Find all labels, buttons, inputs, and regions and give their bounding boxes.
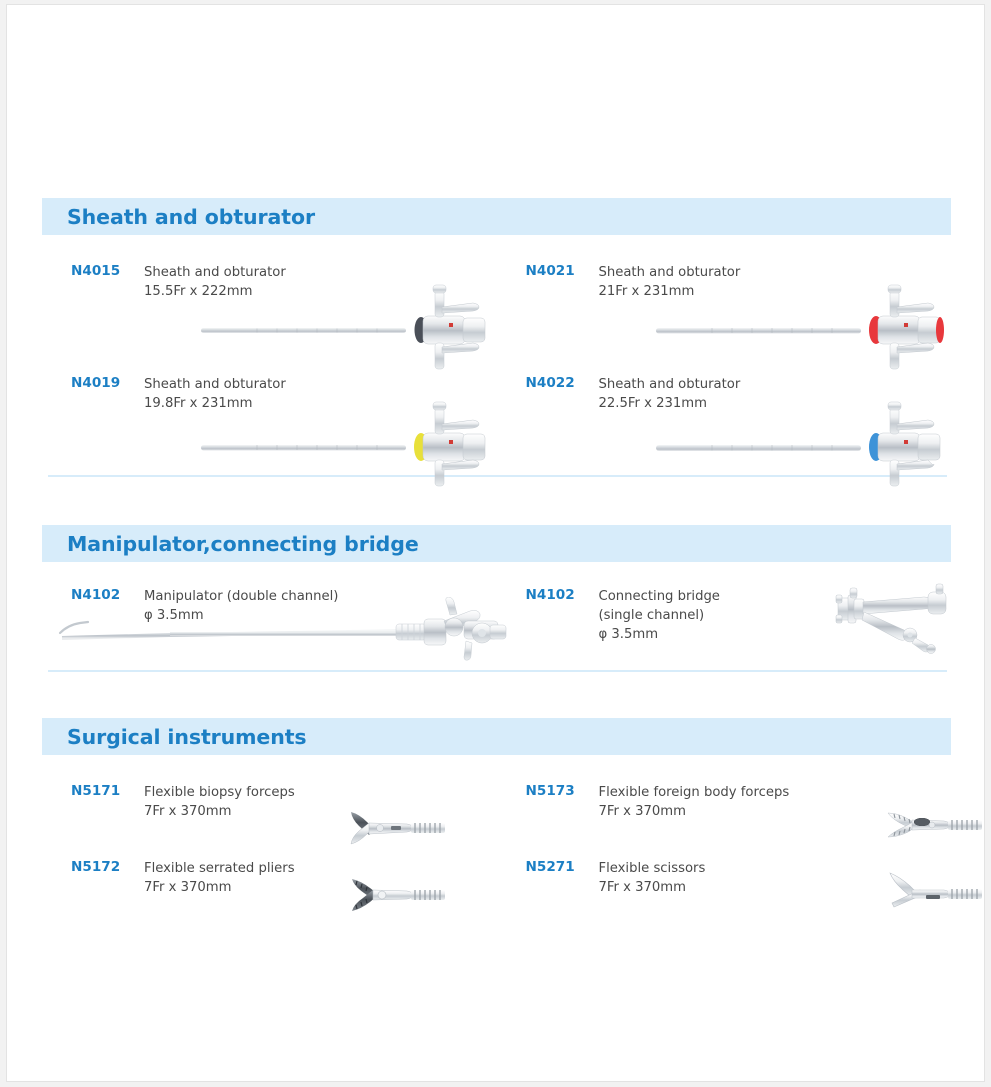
section-title: Sheath and obturator (67, 205, 315, 229)
table-row: N4019 Sheath and obturator 19.8Fr x 231m… (42, 301, 951, 413)
product-item-n5171[interactable]: N5171 Flexible biopsy forceps 7Fr x 370m… (42, 783, 497, 821)
product-description: Sheath and obturator 19.8Fr x 231mm (144, 375, 497, 413)
product-rows: N4102 Manipulator (double channel) φ 3.5… (42, 562, 951, 670)
table-row: N4102 Manipulator (double channel) φ 3.5… (42, 562, 951, 644)
product-description: Flexible foreign body forceps 7Fr x 370m… (599, 783, 952, 821)
table-row: N5172 Flexible serrated pliers 7Fr x 370… (42, 821, 951, 897)
section-manipulator-connecting-bridge: Manipulator,connecting bridge N4102 Mani… (42, 525, 951, 672)
product-item-n5173[interactable]: N5173 Flexible foreign body forceps 7Fr … (497, 783, 952, 821)
product-code: N5171 (42, 783, 144, 799)
product-item-n4015[interactable]: N4015 Sheath and obturator 15.5Fr x 222m… (42, 263, 497, 301)
product-description: Sheath and obturator 21Fr x 231mm (599, 263, 952, 301)
section-title: Surgical instruments (67, 725, 307, 749)
section-surgical-instruments: Surgical instruments N5171 Flexible biop… (42, 718, 951, 895)
catalog-content: Sheath and obturator N4015 Sheath and ob… (42, 198, 951, 895)
product-code: N4019 (42, 375, 144, 391)
section-title: Manipulator,connecting bridge (67, 532, 419, 556)
product-item-manipulator[interactable]: N4102 Manipulator (double channel) φ 3.5… (42, 587, 497, 625)
product-item-n5172[interactable]: N5172 Flexible serrated pliers 7Fr x 370… (42, 859, 497, 897)
product-code: N5172 (42, 859, 144, 875)
product-item-n4021[interactable]: N4021 Sheath and obturator 21Fr x 231mm (497, 263, 952, 301)
section-spacer (42, 477, 951, 525)
product-code: N4015 (42, 263, 144, 279)
section-divider (48, 475, 947, 477)
product-description: Flexible scissors 7Fr x 370mm (599, 859, 952, 897)
product-description: Connecting bridge (single channel) φ 3.5… (599, 587, 952, 644)
product-item-n4019[interactable]: N4019 Sheath and obturator 19.8Fr x 231m… (42, 375, 497, 413)
product-code: N4022 (497, 375, 599, 391)
section-spacer (42, 672, 951, 718)
product-description: Sheath and obturator 22.5Fr x 231mm (599, 375, 952, 413)
section-divider (48, 670, 947, 672)
product-rows: N5171 Flexible biopsy forceps 7Fr x 370m… (42, 755, 951, 895)
product-description: Flexible biopsy forceps 7Fr x 370mm (144, 783, 497, 821)
product-code: N4102 (42, 587, 144, 603)
product-item-connecting-bridge[interactable]: N4102 Connecting bridge (single channel)… (497, 587, 952, 644)
product-description: Flexible serrated pliers 7Fr x 370mm (144, 859, 497, 897)
product-code: N4021 (497, 263, 599, 279)
catalog-page: Sheath and obturator N4015 Sheath and ob… (6, 4, 985, 1082)
product-rows: N4015 Sheath and obturator 15.5Fr x 222m… (42, 235, 951, 475)
section-sheath-and-obturator: Sheath and obturator N4015 Sheath and ob… (42, 198, 951, 477)
section-header-bar: Surgical instruments (42, 718, 951, 755)
section-header-bar: Manipulator,connecting bridge (42, 525, 951, 562)
product-code: N5271 (497, 859, 599, 875)
product-description: Manipulator (double channel) φ 3.5mm (144, 587, 497, 625)
product-item-n5271[interactable]: N5271 Flexible scissors 7Fr x 370mm (497, 859, 952, 897)
product-description: Sheath and obturator 15.5Fr x 222mm (144, 263, 497, 301)
product-code: N5173 (497, 783, 599, 799)
table-row: N4015 Sheath and obturator 15.5Fr x 222m… (42, 235, 951, 301)
table-row: N5171 Flexible biopsy forceps 7Fr x 370m… (42, 755, 951, 821)
section-header-bar: Sheath and obturator (42, 198, 951, 235)
product-item-n4022[interactable]: N4022 Sheath and obturator 22.5Fr x 231m… (497, 375, 952, 413)
product-code: N4102 (497, 587, 599, 603)
